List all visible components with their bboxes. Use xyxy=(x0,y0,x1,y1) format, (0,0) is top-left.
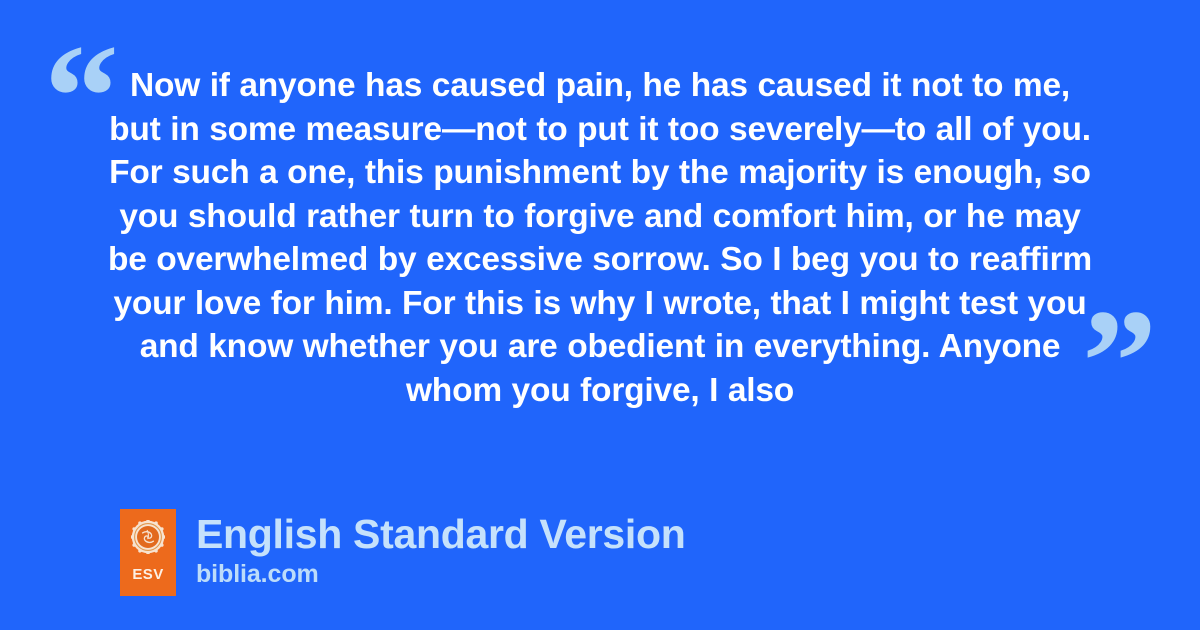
quote-card: “ ” Now if anyone has caused pain, he ha… xyxy=(0,0,1200,630)
esv-logo: ESV xyxy=(120,509,176,596)
esv-logo-abbreviation: ESV xyxy=(132,567,163,582)
quote-text: Now if anyone has caused pain, he has ca… xyxy=(106,64,1094,412)
brand-block: English Standard Version biblia.com xyxy=(196,509,685,589)
esv-seal-icon xyxy=(131,520,165,554)
translation-title: English Standard Version xyxy=(196,510,685,558)
attribution-footer: ESV English Standard Version biblia.com xyxy=(120,509,685,596)
quote-block: Now if anyone has caused pain, he has ca… xyxy=(106,64,1094,412)
site-name: biblia.com xyxy=(196,559,685,589)
